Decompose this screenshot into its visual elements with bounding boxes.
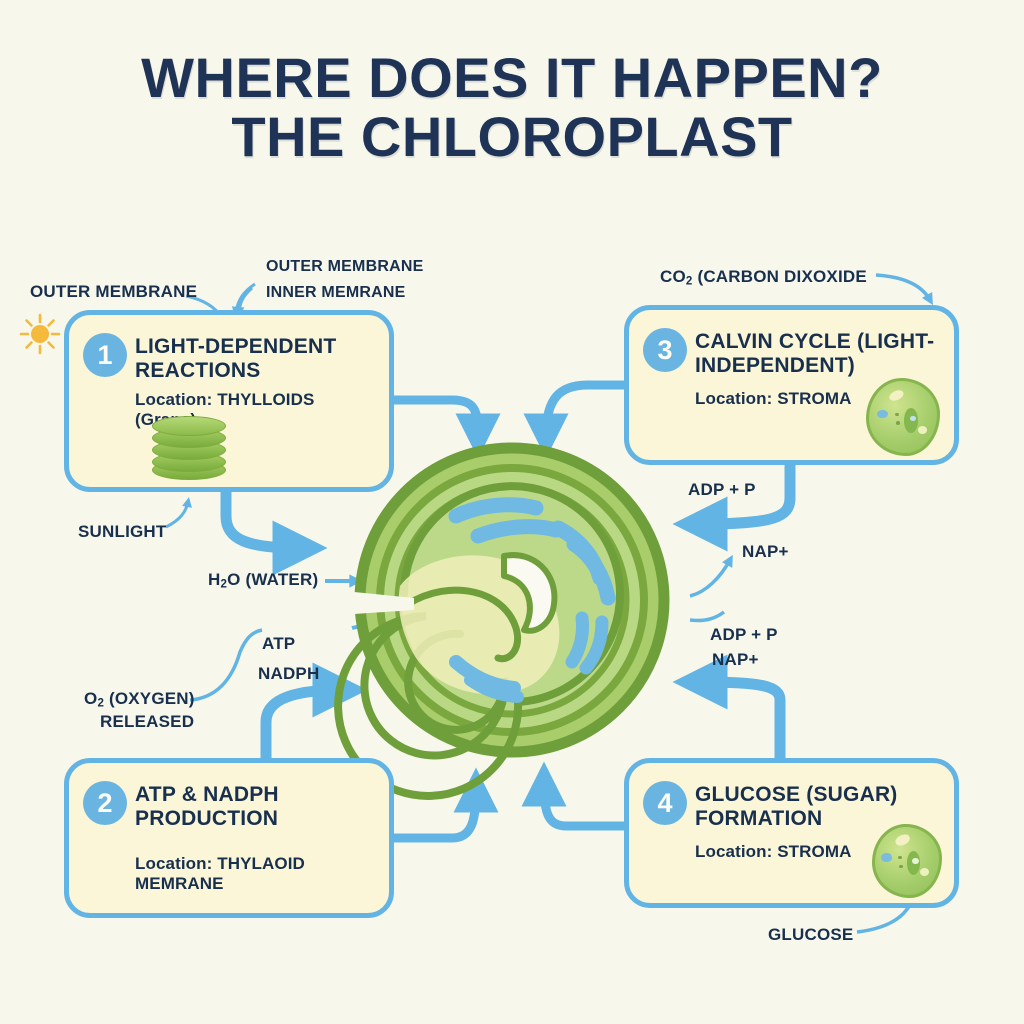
- label-inner-membrane: INNER MEMRANE: [266, 283, 406, 303]
- flow-arrow-card4-adp: [700, 682, 780, 758]
- chloroplast-notch: [354, 592, 414, 614]
- title-line-1: WHERE DOES IT HAPPEN?: [0, 48, 1024, 107]
- label-outer-membrane-right: OUTER MEMBRANE: [266, 257, 423, 277]
- flow-arrow-o2-sweep: [266, 690, 340, 762]
- blob-dot: [896, 421, 900, 425]
- step-number-badge: 1: [83, 333, 127, 377]
- chloroplast-inner-void: [504, 555, 554, 631]
- callout-arrow-inner-right: [239, 288, 252, 312]
- chloroplast-spiral-lamella: [338, 486, 620, 796]
- callout-arrow-atp: [190, 630, 262, 700]
- chloroplast-stroma-swirl: [408, 590, 518, 659]
- chloroplast-stroma: [398, 486, 626, 714]
- label-nap-upper: NAP+: [742, 542, 789, 563]
- label-carbon-dioxide: CO2 (CARBON DIXOXIDE: [660, 267, 867, 289]
- chloroplast-inner-membrane: [380, 468, 644, 732]
- sun-icon: [18, 312, 62, 356]
- chloroplast-outer-membrane: [360, 448, 664, 752]
- label-nap-lower: NAP+: [712, 650, 759, 671]
- step-number-badge: 2: [83, 781, 127, 825]
- step-number-badge: 4: [643, 781, 687, 825]
- grana-disc: [152, 416, 226, 436]
- label-nadph: NADPH: [258, 664, 319, 685]
- page-title: WHERE DOES IT HAPPEN? THE CHLOROPLAST: [0, 48, 1024, 167]
- blob-spot-blue: [877, 410, 888, 419]
- label-outer-membrane-left: OUTER MEMBRANE: [30, 282, 197, 303]
- h2o-rest: O (WATER): [227, 570, 318, 589]
- co2-base: CO: [660, 267, 686, 286]
- blob-dot: [895, 413, 899, 417]
- callout-arrow-outer-right: [236, 284, 255, 312]
- title-line-2: THE CHLOROPLAST: [0, 107, 1024, 166]
- co2-subscript: 2: [686, 276, 693, 288]
- blob-spot-pale: [912, 858, 918, 864]
- chloroplast-stroma-pale: [399, 555, 560, 694]
- callout-arrow-nap-lower: [690, 612, 724, 621]
- blob-highlight: [888, 388, 906, 403]
- label-glucose: GLUCOSE: [768, 925, 853, 946]
- step-card-light-dependent-reactions[interactable]: 1 LIGHT-DEPENDENT REACTIONS Location: TH…: [64, 310, 394, 492]
- infographic-canvas: WHERE DOES IT HAPPEN? THE CHLOROPLAST: [0, 0, 1024, 1024]
- label-oxygen: O2 (OXYGEN): [84, 689, 195, 711]
- callout-arrow-sunlight: [166, 502, 188, 527]
- flow-arrow-card1-sweep: [226, 492, 300, 548]
- flow-arrow-card2-to-chloroplast: [394, 790, 476, 838]
- label-atp: ATP: [262, 634, 295, 655]
- label-adp-phosphate-lower: ADP + P: [710, 625, 778, 646]
- co2-rest: (CARBON DIXOXIDE: [693, 267, 867, 286]
- chloroplast-blob-icon: [872, 824, 942, 898]
- step-title: LIGHT-DEPENDENT REACTIONS: [135, 335, 379, 384]
- step-title: ATP & NADPH PRODUCTION: [135, 783, 379, 832]
- blob-spot-blue: [881, 853, 891, 862]
- grana-stack-icon: [152, 416, 226, 478]
- blob-highlight: [918, 426, 928, 434]
- blob-highlight: [894, 832, 912, 847]
- step-number-badge: 3: [643, 328, 687, 372]
- flow-arrow-card4-to-chloroplast: [544, 784, 624, 826]
- label-oxygen-released: RELEASED: [100, 712, 194, 733]
- blob-spot-pale: [910, 416, 916, 422]
- chloroplast-blob-icon: [866, 378, 940, 456]
- callout-arrow-nap-upper: [690, 560, 730, 596]
- label-sunlight: SUNLIGHT: [78, 522, 166, 543]
- o2-rest: (OXYGEN): [104, 689, 195, 708]
- flow-arrow-card3-to-chloroplast: [546, 385, 624, 436]
- callout-arrow-co2: [876, 275, 930, 300]
- blob-highlight: [920, 868, 930, 876]
- flow-arrow-card1-to-chloroplast: [394, 400, 478, 436]
- step-title: CALVIN CYCLE (LIGHT-INDEPENDENT): [695, 330, 944, 379]
- callout-arrow-atp-into-cell: [352, 627, 378, 636]
- h2o-base: H: [208, 570, 220, 589]
- thylakoid-segments: [456, 505, 608, 697]
- step-location: Location: THYLAOID MEMRANE: [135, 854, 379, 894]
- blob-dot: [899, 865, 903, 868]
- label-adp-phosphate-upper: ADP + P: [688, 480, 756, 501]
- step-card-atp-nadph-production[interactable]: 2 ATP & NADPH PRODUCTION Location: THYLA…: [64, 758, 394, 918]
- o2-base: O: [84, 689, 97, 708]
- blob-dot: [898, 856, 902, 859]
- label-water: H2O (WATER): [208, 570, 318, 592]
